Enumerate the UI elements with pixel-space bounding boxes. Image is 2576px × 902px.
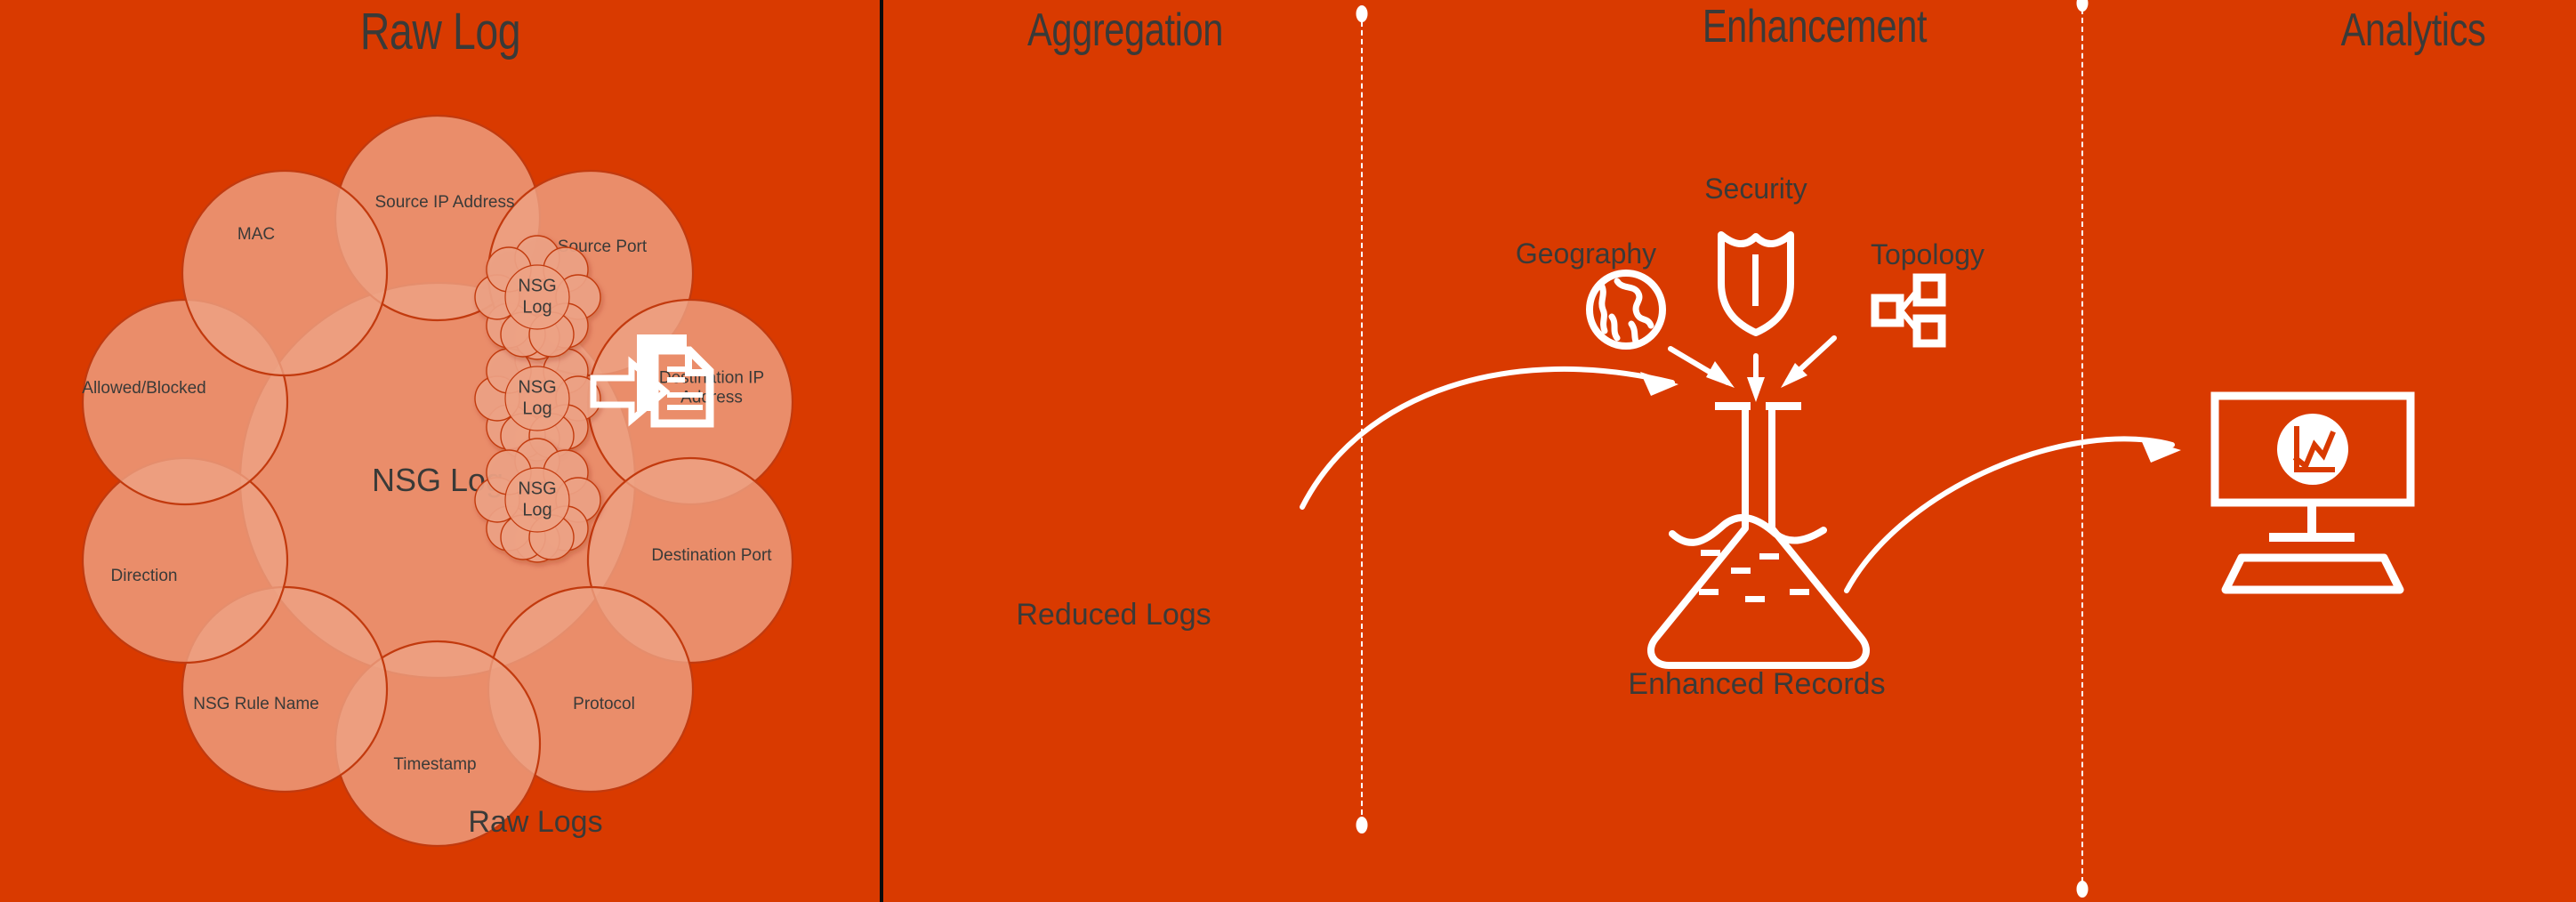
- pipeline-artwork: [0, 0, 2576, 902]
- monitor-chart-icon: [2215, 396, 2411, 590]
- curve-arrow-to-flask: [1302, 369, 1678, 507]
- panel-title-aggregation: Aggregation: [937, 4, 1314, 57]
- panel-title-analytics: Analytics: [2283, 4, 2544, 57]
- documents-icon: [637, 334, 710, 423]
- flask-icon: [1651, 402, 1866, 665]
- curve-arrow-to-analytics: [1847, 438, 2181, 591]
- globe-icon: [1590, 273, 1662, 346]
- panel-title-enhancement: Enhancement: [1459, 0, 2170, 53]
- diagram-canvas: NSG Log Source IP Address Source Port De…: [0, 0, 2576, 902]
- network-topology-icon: [1875, 278, 1942, 343]
- geography-arrow: [1670, 349, 1735, 388]
- nsg-log-cluster-3: [475, 439, 600, 562]
- security-arrow: [1747, 356, 1765, 402]
- panel-title-raw-log: Raw Log: [88, 2, 793, 61]
- shield-icon: [1721, 235, 1791, 333]
- topology-arrow: [1781, 338, 1834, 388]
- nsg-log-cluster-2: [475, 236, 600, 359]
